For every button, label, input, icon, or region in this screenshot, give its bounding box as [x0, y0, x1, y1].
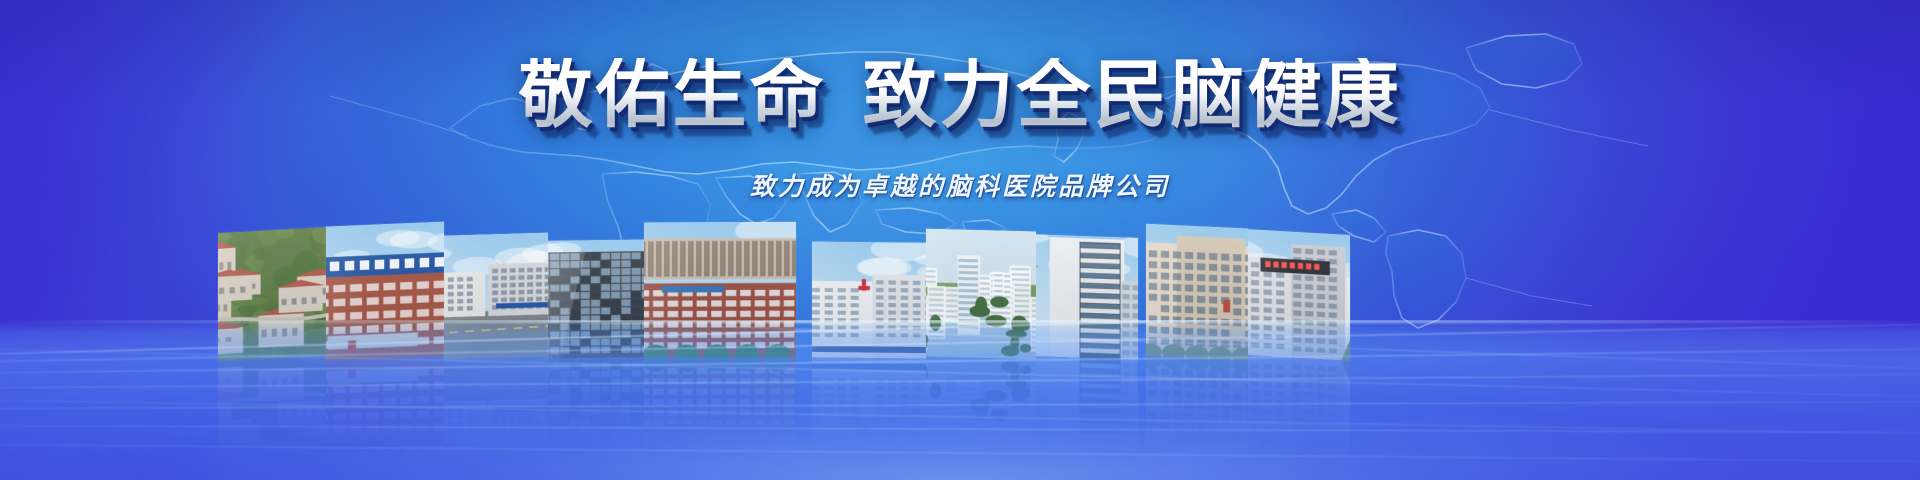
- hospital-street-view-white-building-image: [444, 233, 548, 360]
- photo-tile[interactable]: [1248, 229, 1350, 361]
- photo-strip: [0, 216, 1920, 351]
- aerial-campus-red-roof-buildings-image: [218, 227, 326, 361]
- white-hospital-with-red-cross-sign-image: [812, 241, 926, 358]
- photo-tile[interactable]: [1036, 234, 1138, 360]
- beige-apartment-hospital-complex-image: [1146, 224, 1248, 361]
- cixi-blue-cross-brain-hospital-facade-image: [326, 222, 444, 361]
- photo-tile[interactable]: [926, 229, 1036, 360]
- photo-tile[interactable]: [444, 233, 548, 360]
- dark-glass-office-tower-image: [548, 239, 644, 358]
- modern-highrise-hospital-tower-image: [1036, 234, 1138, 360]
- hospital-building-with-led-signboard-image: [1248, 229, 1350, 361]
- photo-tile[interactable]: [326, 222, 444, 361]
- photo-tile[interactable]: [812, 241, 926, 358]
- photo-tile[interactable]: [218, 227, 326, 361]
- photo-tile[interactable]: [548, 239, 644, 358]
- hospital-hero-banner: 敬佑生命致力全民脑健康 致力成为卓越的脑科医院品牌公司: [0, 0, 1920, 480]
- hospital-campus-rendering-aerial-image: [926, 229, 1036, 360]
- red-brick-hospital-block-image: [644, 222, 796, 359]
- photo-tile[interactable]: [644, 222, 796, 359]
- photo-tile[interactable]: [1146, 224, 1248, 361]
